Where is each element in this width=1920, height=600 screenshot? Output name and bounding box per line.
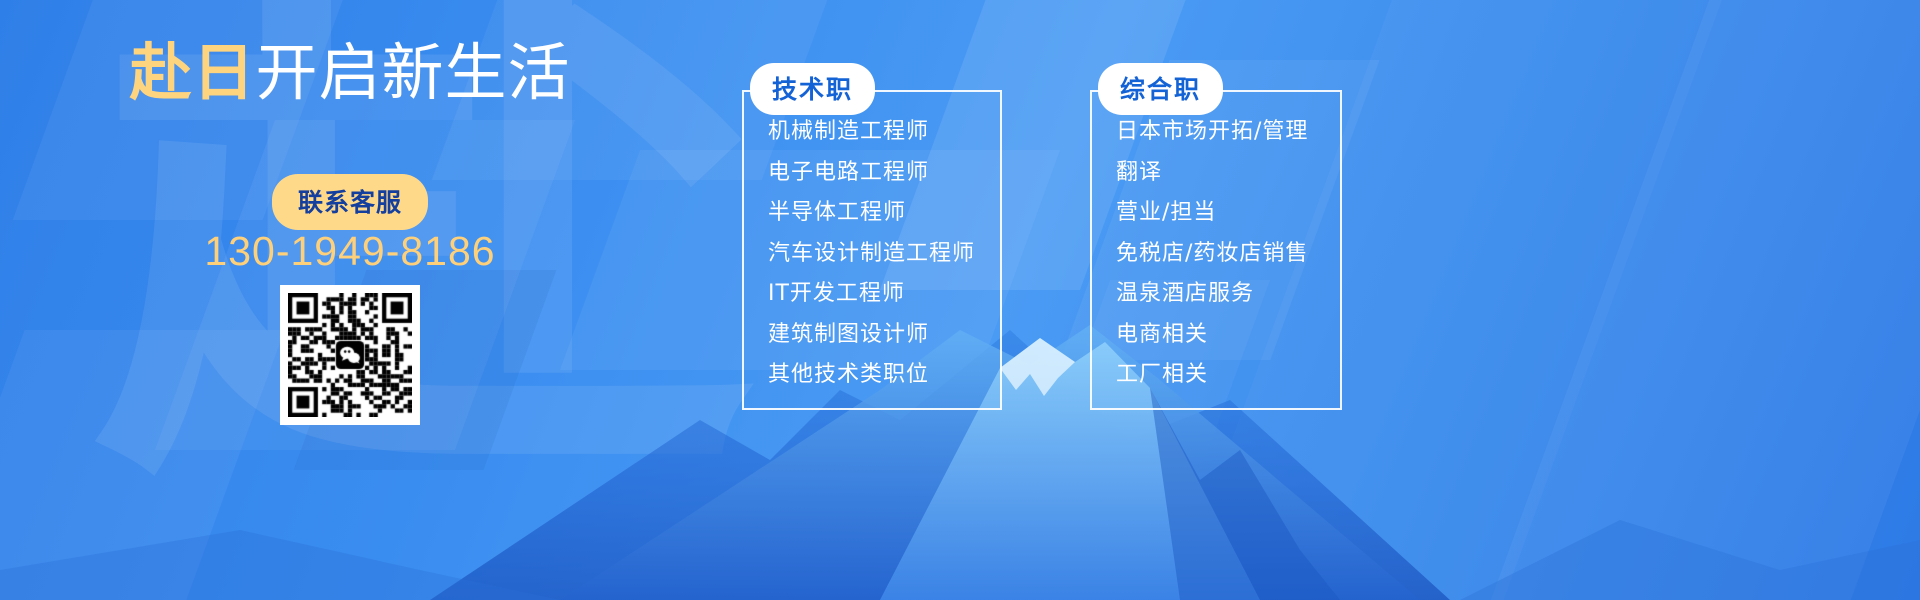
decor-slab: [1476, 0, 1920, 600]
page-title: 赴日开启新生活: [0, 42, 700, 104]
list-item[interactable]: 翻译: [1116, 153, 1308, 194]
tech-positions-list: 机械制造工程师 电子电路工程师 半导体工程师 汽车设计制造工程师 IT开发工程师…: [768, 112, 975, 396]
list-item[interactable]: 汽车设计制造工程师: [768, 234, 975, 275]
contact-support-button[interactable]: 联系客服: [272, 174, 428, 230]
list-item[interactable]: 电子电路工程师: [768, 153, 975, 194]
headline-plain: 开启新生活: [256, 36, 571, 109]
recruitment-banner: 赴: [0, 0, 1920, 600]
list-item[interactable]: 日本市场开拓/管理: [1116, 112, 1308, 153]
tech-positions-title: 技术职: [750, 63, 875, 115]
list-item[interactable]: 其他技术类职位: [768, 355, 975, 396]
list-item[interactable]: 机械制造工程师: [768, 112, 975, 153]
list-item[interactable]: 电商相关: [1116, 315, 1308, 356]
qr-code-canvas: [288, 293, 412, 417]
list-item[interactable]: 工厂相关: [1116, 355, 1308, 396]
list-item[interactable]: 营业/担当: [1116, 193, 1308, 234]
phone-number[interactable]: 130-1949-8186: [0, 228, 700, 275]
wechat-qr-code-icon[interactable]: [280, 285, 420, 425]
list-item[interactable]: 免税店/药妆店销售: [1116, 234, 1308, 275]
list-item[interactable]: 温泉酒店服务: [1116, 274, 1308, 315]
list-item[interactable]: 建筑制图设计师: [768, 315, 975, 356]
list-item[interactable]: 半导体工程师: [768, 193, 975, 234]
general-positions-list: 日本市场开拓/管理 翻译 营业/担当 免税店/药妆店销售 温泉酒店服务 电商相关…: [1116, 112, 1308, 396]
contact-column: 赴日开启新生活 联系客服 130-1949-8186: [0, 0, 700, 600]
headline-accent: 赴日: [129, 36, 255, 109]
list-item[interactable]: IT开发工程师: [768, 274, 975, 315]
general-positions-title: 综合职: [1098, 63, 1223, 115]
